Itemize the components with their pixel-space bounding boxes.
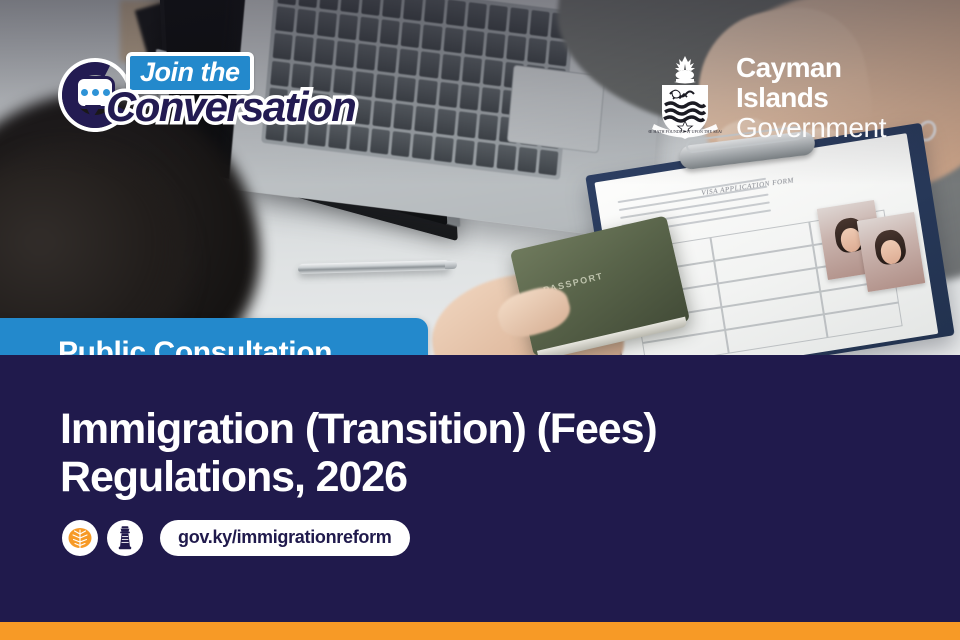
website-url-pill[interactable]: gov.ky/immigrationreform xyxy=(160,520,410,556)
passport-photo xyxy=(857,212,926,292)
accent-strip xyxy=(0,622,960,640)
website-url-text: gov.ky/immigrationreform xyxy=(178,527,392,547)
lighthouse-icon xyxy=(113,525,137,551)
join-the-conversation-logo: Join the Conversation xyxy=(58,52,388,138)
ellipsis-dot-icon xyxy=(81,89,88,96)
coat-of-arms-icon: HE HATH FOUNDED IT UPON THE SEAS xyxy=(648,54,722,142)
footer-row: gov.ky/immigrationreform xyxy=(62,520,410,556)
page-title: Immigration (Transition) (Fees) Regulati… xyxy=(60,405,860,501)
poster-canvas: VISA APPLICATION FORM PASSPORT xyxy=(0,0,960,640)
conversation-label: Conversation xyxy=(106,86,355,128)
svg-text:HE HATH FOUNDED IT UPON THE SE: HE HATH FOUNDED IT UPON THE SEAS xyxy=(648,129,722,134)
silver-thatch-palm-leaf-icon xyxy=(67,525,93,551)
cayman-islands-government-logo: HE HATH FOUNDED IT UPON THE SEAS Cayman … xyxy=(648,52,908,144)
page-title-line2: Regulations, 2026 xyxy=(60,453,860,501)
page-title-line1: Immigration (Transition) (Fees) xyxy=(60,405,860,453)
government-name-line1: Cayman Islands xyxy=(736,53,908,112)
ellipsis-dot-icon xyxy=(92,89,99,96)
silver-thatch-palm-leaf-badge xyxy=(62,520,98,556)
ellipsis-dot-icon xyxy=(103,89,110,96)
government-wordmark: Cayman Islands Government xyxy=(736,53,908,142)
government-name-line2: Government xyxy=(736,113,908,143)
lighthouse-badge xyxy=(107,520,143,556)
content-panel: Immigration (Transition) (Fees) Regulati… xyxy=(0,355,960,622)
